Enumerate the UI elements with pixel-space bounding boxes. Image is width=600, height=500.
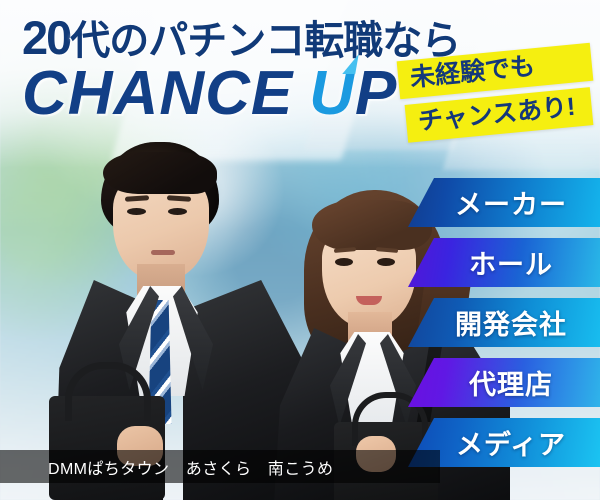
woman-eye-right	[377, 258, 395, 266]
ad-banner[interactable]: 20代のパチンコ転職なら CHANCE U P 未経験でも チャンスあり! メー…	[0, 0, 600, 500]
category-tag-hall-label: ホール	[455, 243, 553, 282]
logo-letter-p: P	[355, 63, 396, 125]
category-tag-agency[interactable]: 代理店	[408, 358, 600, 407]
man-eye-left	[127, 208, 146, 215]
man-fringe	[103, 152, 217, 194]
woman-eye-left	[335, 258, 353, 266]
logo-letter-u: U	[309, 63, 354, 125]
man-mouth	[151, 250, 175, 255]
category-tag-agency-label: 代理店	[455, 363, 553, 402]
caption-text: DMMぱちタウン あさくら 南こうめ	[0, 455, 333, 479]
category-tag-development-company[interactable]: 開発会社	[408, 298, 600, 347]
category-tag-hall[interactable]: ホール	[408, 238, 600, 287]
category-tag-maker-label: メーカー	[441, 183, 567, 222]
callout-badge-group: 未経験でも チャンスあり!	[398, 52, 592, 134]
headline-tagline: 20代のパチンコ転職なら	[22, 14, 460, 61]
logo-chance-up: CHANCE U P	[22, 63, 460, 125]
man-eye-right	[168, 208, 187, 215]
category-tag-development-company-label: 開発会社	[441, 303, 567, 342]
category-tag-maker[interactable]: メーカー	[408, 178, 600, 227]
category-tag-list: メーカー ホール 開発会社 代理店 メディア	[408, 178, 600, 467]
logo-word-chance: CHANCE	[22, 63, 293, 125]
headline-age-number: 20	[22, 11, 70, 64]
headline-block: 20代のパチンコ転職なら CHANCE U P	[22, 14, 460, 125]
caption-bar: DMMぱちタウン あさくら 南こうめ	[0, 450, 440, 483]
category-tag-media-label: メディア	[442, 423, 566, 462]
